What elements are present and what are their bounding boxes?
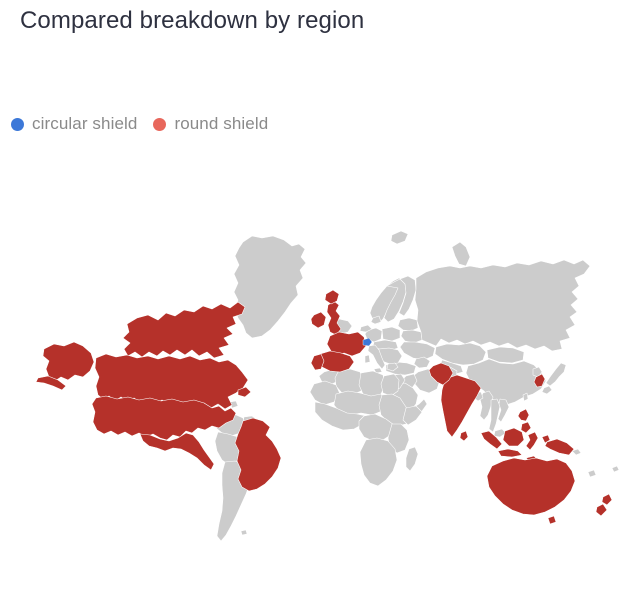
map-region-svalbard[interactable]	[391, 231, 408, 244]
map-region-belarus[interactable]	[401, 330, 422, 343]
map-region-russia[interactable]	[415, 260, 590, 351]
map-region-japan-south[interactable]	[542, 386, 552, 394]
legend-item-circular-shield[interactable]: circular shield	[11, 114, 137, 134]
map-region-novaya-zemlya[interactable]	[452, 242, 470, 266]
map-region-poland[interactable]	[382, 327, 400, 341]
map-region-australia[interactable]	[487, 458, 575, 515]
map-region-alaska[interactable]	[43, 342, 94, 381]
map-region-new-caledonia[interactable]	[588, 470, 596, 477]
map-region-tasmania[interactable]	[548, 516, 556, 524]
map-region-papua-new-guinea[interactable]	[545, 439, 574, 455]
map-region-baltics[interactable]	[398, 318, 418, 331]
map-region-ukraine[interactable]	[400, 342, 435, 360]
map-region-indonesia-sulawesi[interactable]	[526, 432, 538, 450]
map-region-fiji[interactable]	[612, 466, 619, 472]
map-region-india[interactable]	[441, 375, 481, 437]
map-region-ireland[interactable]	[311, 312, 326, 328]
map-region-sri-lanka[interactable]	[460, 431, 468, 441]
page-title: Compared breakdown by region	[20, 4, 364, 38]
legend-item-round-shield[interactable]: round shield	[153, 114, 268, 134]
world-map-container[interactable]	[0, 150, 640, 591]
map-chart-widget: Compared breakdown by region circular sh…	[0, 0, 640, 591]
map-region-indonesia-java[interactable]	[498, 449, 522, 457]
legend-dot-icon	[153, 118, 166, 131]
map-region-southern-africa[interactable]	[360, 438, 397, 486]
world-map-svg[interactable]	[0, 150, 640, 591]
legend-item-label: round shield	[174, 114, 268, 134]
map-region-canada[interactable]	[123, 302, 245, 358]
map-region-portugal[interactable]	[311, 354, 324, 370]
map-region-brazil[interactable]	[235, 418, 281, 491]
map-region-japan[interactable]	[546, 363, 566, 386]
map-region-indonesia-borneo[interactable]	[503, 428, 524, 446]
map-region-mexico[interactable]	[140, 433, 214, 470]
map-region-uk-scotland[interactable]	[325, 290, 339, 304]
map-region-greenland[interactable]	[234, 236, 306, 338]
map-region-madagascar[interactable]	[406, 447, 418, 471]
legend-item-label: circular shield	[32, 114, 137, 134]
map-region-horn-of-africa[interactable]	[403, 406, 422, 425]
chart-legend: circular shield round shield	[11, 110, 268, 138]
map-region-united-kingdom[interactable]	[327, 301, 341, 335]
map-region-aleutians[interactable]	[36, 376, 66, 390]
map-region-falklands[interactable]	[241, 530, 247, 535]
map-region-new-zealand[interactable]	[596, 494, 612, 516]
legend-dot-icon	[11, 118, 24, 131]
